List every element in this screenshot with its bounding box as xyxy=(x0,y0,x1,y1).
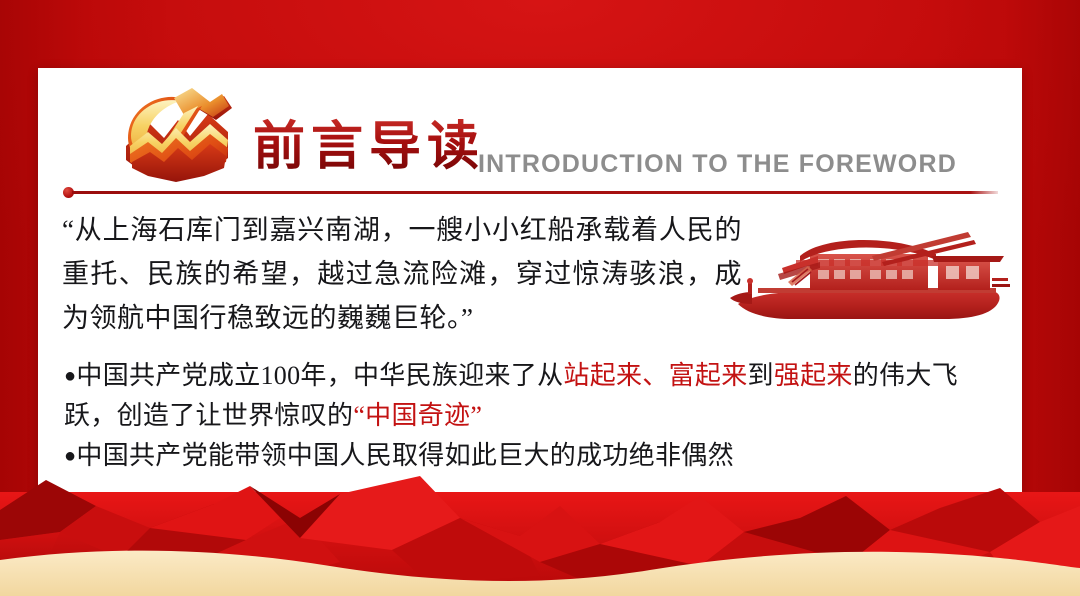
foreword-quote: “从上海石库门到嘉兴南湖，一艘小小红船承载着人民的重托、民族的希望，越过急流险滩… xyxy=(62,208,742,340)
nanhu-red-boat-icon xyxy=(722,226,1012,331)
ccp-party-emblem-icon xyxy=(116,84,240,188)
divider-line xyxy=(72,191,998,194)
bullet-marker-icon: ● xyxy=(64,445,76,467)
decorative-bottom-scene xyxy=(0,466,1080,596)
bullet-marker-icon: ● xyxy=(64,365,76,387)
highlighted-text: 强起来 xyxy=(774,361,853,390)
bullet-list: ●中国共产党成立100年，中华民族迎来了从站起来、富起来到强起来的伟大飞跃，创造… xyxy=(64,356,994,476)
page-title: 前言导读 xyxy=(253,104,485,179)
page-subtitle-english: INTRODUCTION TO THE FOREWORD xyxy=(478,150,957,179)
card-header: 前言导读 INTRODUCTION TO THE FOREWORD xyxy=(38,68,1022,196)
highlighted-text: “中国奇迹” xyxy=(353,401,482,430)
header-divider xyxy=(63,186,998,198)
list-item: ●中国共产党成立100年，中华民族迎来了从站起来、富起来到强起来的伟大飞跃，创造… xyxy=(64,356,994,436)
list-item-text: 到 xyxy=(748,361,774,390)
list-item-text: 中国共产党成立100年，中华民族迎来了从 xyxy=(76,361,563,390)
content-card: 前言导读 INTRODUCTION TO THE FOREWORD “从上海石库… xyxy=(38,68,1022,497)
highlighted-text: 站起来、富起来 xyxy=(563,361,747,390)
